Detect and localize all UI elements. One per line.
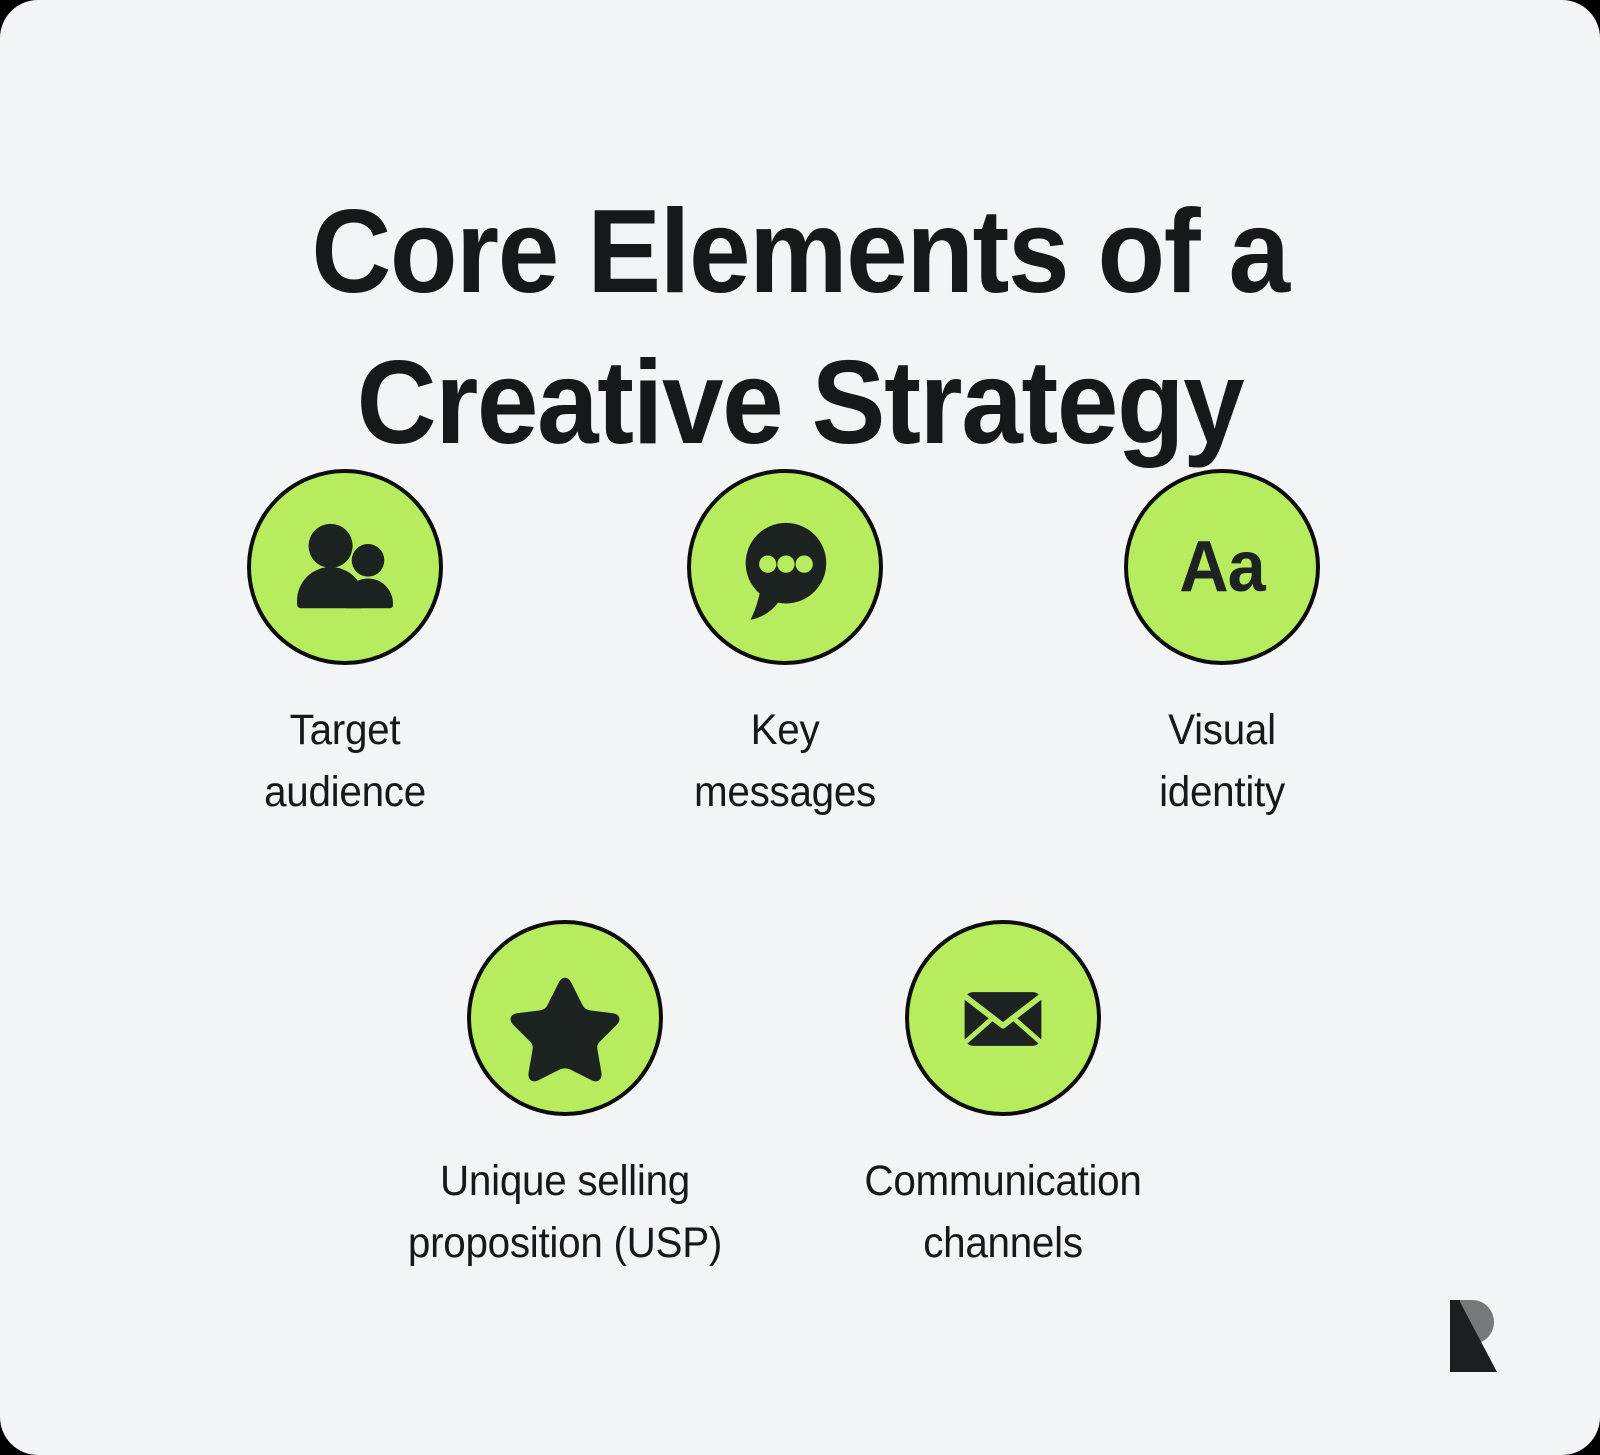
item-usp: Unique selling proposition (USP): [355, 920, 775, 1274]
envelope-icon: [909, 924, 1097, 1112]
item-label: Unique selling proposition (USP): [368, 1150, 763, 1274]
icon-badge-communication-channels: [905, 920, 1101, 1116]
item-communication: Communication channels: [793, 920, 1213, 1274]
icon-badge-target-audience: [247, 469, 443, 665]
icon-badge-key-messages: [687, 469, 883, 665]
icon-badge-visual-identity: Aa: [1124, 469, 1320, 665]
item-target-audience: Target audience: [135, 469, 555, 823]
item-label: Target audience: [148, 699, 543, 823]
typography-aa-icon: Aa: [1133, 531, 1312, 603]
page-title: Core Elements of a Creative Strategy: [56, 176, 1544, 478]
people-icon: [251, 473, 439, 661]
chat-bubble-dots-icon: [691, 473, 879, 661]
star-icon: [471, 924, 659, 1112]
item-key-messages: Key messages: [575, 469, 995, 823]
r-monogram-logo: [1441, 1298, 1503, 1374]
item-visual-identity: Aa Visual identity: [1012, 469, 1432, 823]
item-label: Visual identity: [1025, 699, 1420, 823]
infographic-card: Core Elements of a Creative Strategy Tar…: [0, 0, 1600, 1455]
item-label: Key messages: [588, 699, 983, 823]
icon-badge-usp: [467, 920, 663, 1116]
item-label: Communication channels: [806, 1150, 1201, 1274]
